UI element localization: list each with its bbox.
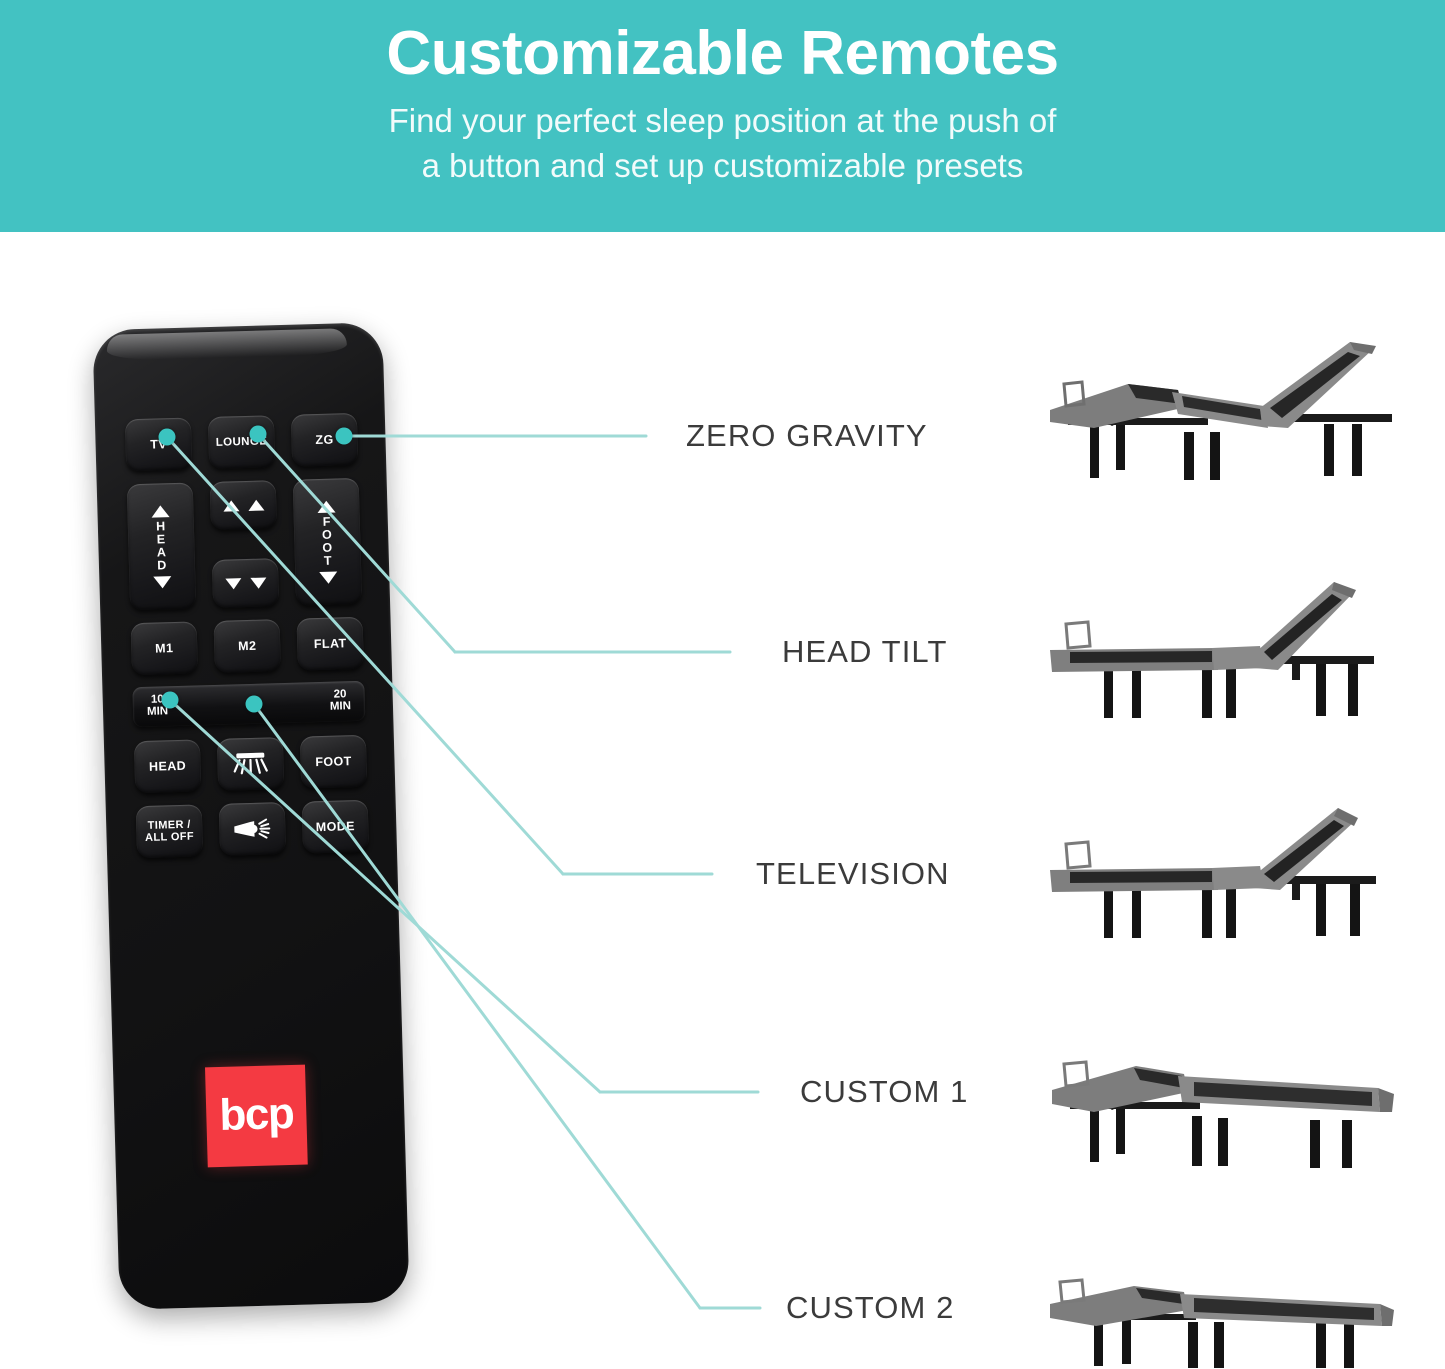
bed-illustration-zero-gravity bbox=[1032, 332, 1422, 482]
callout-dot-head-tilt bbox=[250, 426, 267, 443]
callout-dot-custom1 bbox=[162, 692, 179, 709]
callout-label-custom2: CUSTOM 2 bbox=[786, 1290, 954, 1326]
callout-dot-custom2 bbox=[246, 696, 263, 713]
bed-illustration-head-tilt bbox=[1016, 570, 1416, 720]
callout-dot-zero-gravity bbox=[336, 428, 353, 445]
callout-label-zero-gravity: ZERO GRAVITY bbox=[686, 418, 928, 454]
callout-label-head-tilt: HEAD TILT bbox=[782, 634, 948, 670]
infographic-root: Customizable Remotes Find your perfect s… bbox=[0, 0, 1445, 1369]
callout-dot-television bbox=[159, 429, 176, 446]
callout-label-custom1: CUSTOM 1 bbox=[800, 1074, 968, 1110]
bed-illustration-television bbox=[1016, 790, 1416, 940]
bed-illustration-custom2 bbox=[1042, 1256, 1432, 1369]
callout-label-television: TELEVISION bbox=[756, 856, 950, 892]
bed-illustration-custom1 bbox=[1042, 1026, 1432, 1171]
